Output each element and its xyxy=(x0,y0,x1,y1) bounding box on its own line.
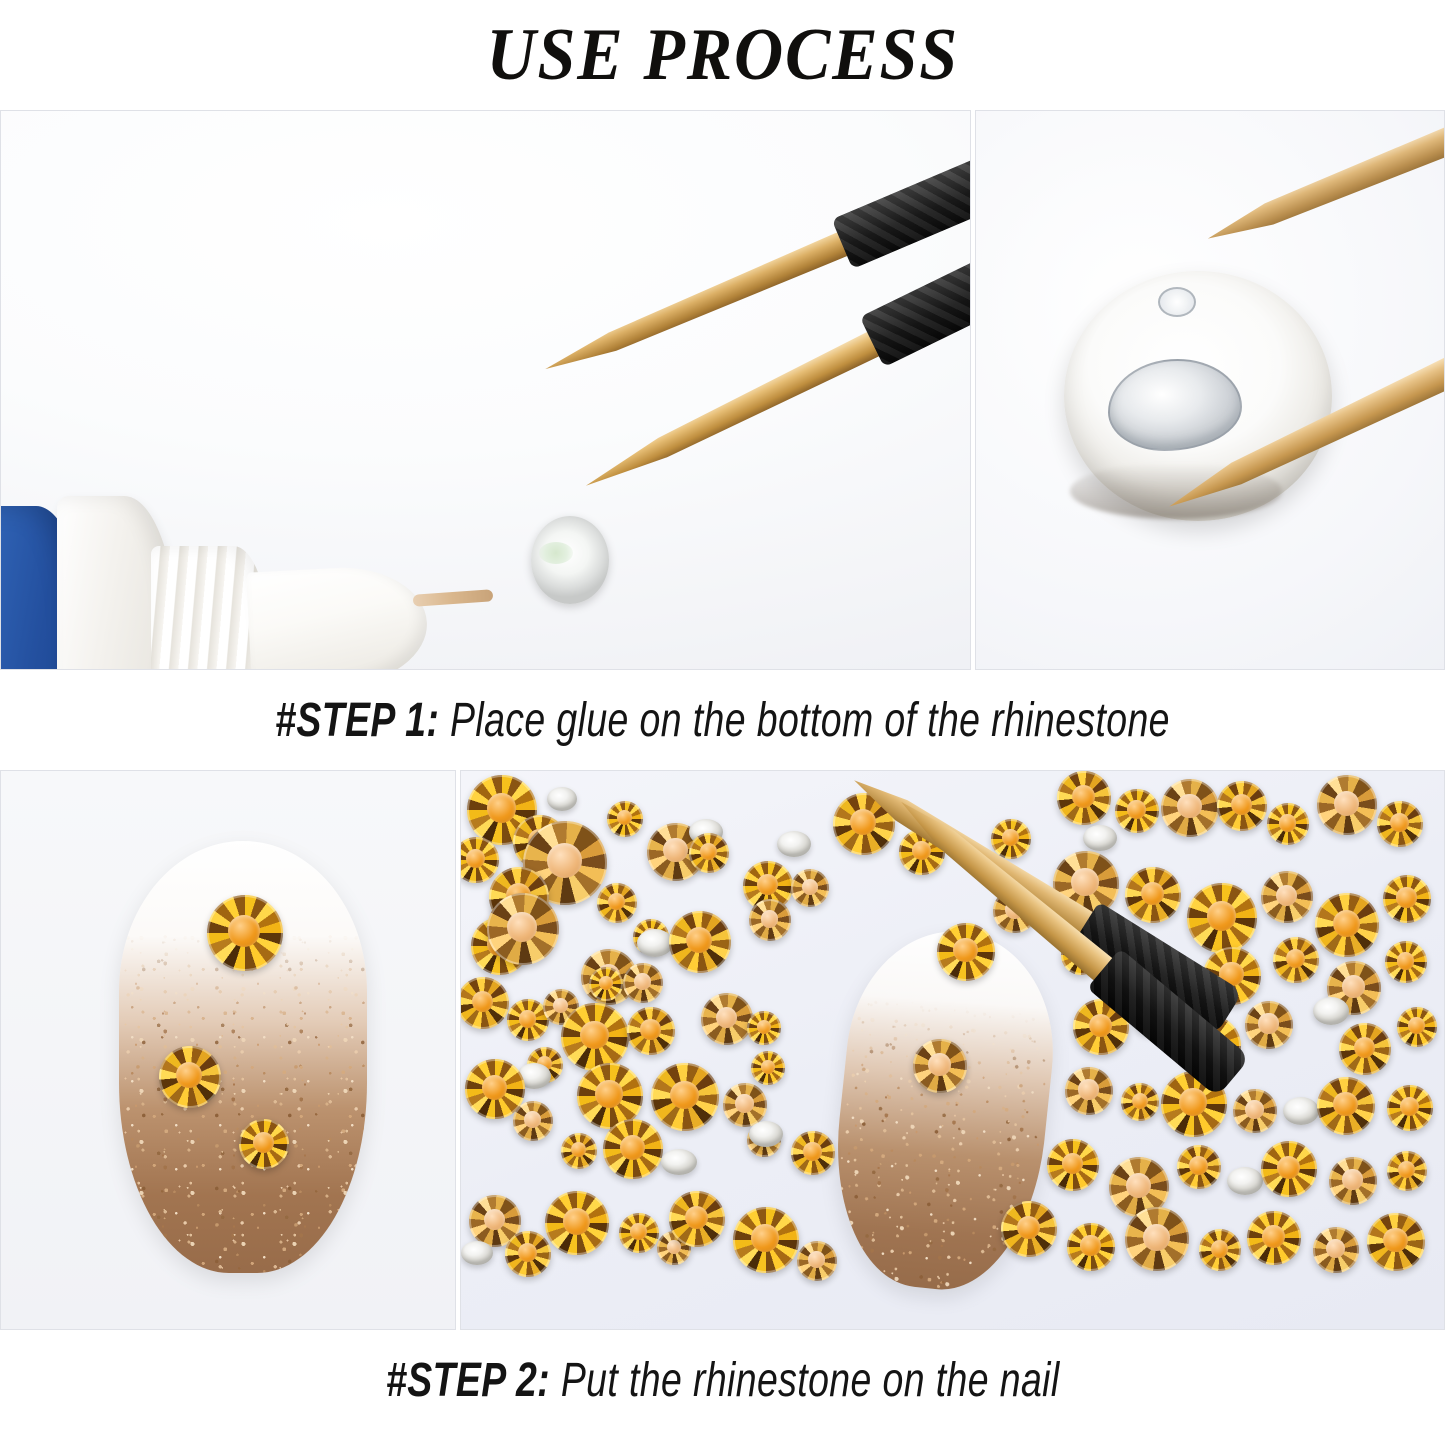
gold-rhinestone xyxy=(619,1213,659,1253)
gold-rhinestone xyxy=(751,1051,785,1085)
gold-rhinestone xyxy=(1367,1213,1425,1271)
gold-rhinestone xyxy=(607,801,643,837)
clear-rhinestone xyxy=(531,516,609,604)
gold-rhinestone xyxy=(159,1046,221,1108)
gold-rhinestone xyxy=(627,1007,675,1055)
step-1-text: Place glue on the bottom of the rhinesto… xyxy=(439,694,1170,747)
gold-rhinestone xyxy=(1199,1229,1241,1271)
step-2-image-row xyxy=(0,770,1445,1330)
gold-rhinestone xyxy=(545,1191,609,1255)
gold-rhinestone xyxy=(1315,893,1379,957)
gold-rhinestone xyxy=(689,833,729,873)
gold-rhinestone xyxy=(1125,867,1181,923)
gold-rhinestone xyxy=(1387,1085,1433,1131)
bottle-nozzle xyxy=(246,563,430,670)
silver-flatback xyxy=(1283,1097,1319,1125)
gold-rhinestone xyxy=(1313,1227,1359,1273)
page-header: USE PROCESS xyxy=(0,0,1445,110)
page-title: USE PROCESS xyxy=(486,18,958,92)
gold-rhinestone xyxy=(651,1063,719,1131)
gold-rhinestone xyxy=(747,1011,781,1045)
gold-rhinestone xyxy=(1317,1077,1375,1135)
gold-rhinestone xyxy=(701,993,753,1045)
glue-drop-small xyxy=(1158,287,1196,317)
gold-rhinestone xyxy=(505,1231,551,1277)
gold-rhinestone xyxy=(1385,941,1427,983)
gold-rhinestone xyxy=(1377,801,1423,847)
step-1-image-row xyxy=(0,110,1445,670)
gold-rhinestone xyxy=(239,1119,289,1169)
gold-rhinestone xyxy=(1247,1211,1301,1265)
gold-rhinestone xyxy=(513,1101,553,1141)
gold-rhinestone xyxy=(791,869,829,907)
silver-flatback xyxy=(461,1241,493,1265)
gold-rhinestone xyxy=(1261,1141,1317,1197)
glue-bottle xyxy=(0,496,481,670)
silver-flatback xyxy=(661,1149,697,1175)
panel-glue-drop-on-stone xyxy=(975,110,1445,670)
gold-rhinestone xyxy=(1245,1001,1293,1049)
gold-rhinestone xyxy=(597,883,637,923)
silver-flatback xyxy=(547,787,577,811)
silver-flatback xyxy=(637,929,673,957)
gold-rhinestone xyxy=(1065,1067,1113,1115)
gold-rhinestone xyxy=(1115,789,1159,833)
gold-rhinestone xyxy=(1387,1151,1427,1191)
gold-rhinestone xyxy=(1187,883,1257,953)
gold-rhinestone xyxy=(749,899,791,941)
gold-rhinestone xyxy=(1339,1023,1391,1075)
gold-rhinestone xyxy=(1261,871,1313,923)
gold-rhinestone xyxy=(669,1191,725,1247)
gold-rhinestone xyxy=(207,895,283,971)
gold-rhinestone xyxy=(561,1133,597,1169)
silver-flatback xyxy=(777,831,811,857)
gold-rhinestone xyxy=(1383,875,1431,923)
gold-rhinestone xyxy=(487,893,559,965)
gold-rhinestone xyxy=(797,1241,837,1281)
silver-flatback xyxy=(1083,825,1117,851)
gold-rhinestone xyxy=(561,1003,629,1071)
gold-rhinestone xyxy=(791,1131,835,1175)
gold-rhinestone xyxy=(603,1119,663,1179)
gold-rhinestone xyxy=(1267,803,1309,845)
glue-drop xyxy=(1108,359,1242,451)
step-2-caption: #STEP 2: Put the rhinestone on the nail xyxy=(0,1330,1445,1430)
panel-finished-nail xyxy=(0,770,456,1330)
gold-rhinestone xyxy=(1161,779,1219,837)
panel-glue-bottle-tweezers xyxy=(0,110,971,670)
step-1-label: #STEP 1: xyxy=(275,694,439,747)
gold-rhinestone-in-tweezers xyxy=(937,923,995,981)
gold-rhinestone xyxy=(1329,1157,1377,1205)
gold-rhinestone xyxy=(669,911,731,973)
gold-rhinestone xyxy=(1001,1201,1057,1257)
gold-rhinestone xyxy=(623,963,663,1003)
gold-rhinestone xyxy=(1317,775,1377,835)
silver-flatback xyxy=(1313,997,1349,1025)
gold-rhinestone xyxy=(1125,1207,1189,1271)
step-2-text: Put the rhinestone on the nail xyxy=(550,1354,1060,1407)
gold-rhinestone xyxy=(1121,1083,1159,1121)
gold-rhinestone-on-nail xyxy=(913,1039,967,1093)
gold-rhinestone xyxy=(589,967,623,1001)
gold-rhinestone xyxy=(1047,1139,1099,1191)
gold-rhinestone xyxy=(1397,1007,1437,1047)
silver-flatback xyxy=(1227,1167,1263,1195)
gold-rhinestone xyxy=(1233,1089,1277,1133)
gold-rhinestone xyxy=(733,1207,799,1273)
step-1-caption: #STEP 1: Place glue on the bottom of the… xyxy=(0,670,1445,770)
gold-rhinestone xyxy=(1177,1145,1221,1189)
step-2-label: #STEP 2: xyxy=(386,1354,550,1407)
panel-rhinestone-field xyxy=(460,770,1445,1330)
gold-rhinestone xyxy=(723,1083,767,1127)
gold-rhinestone xyxy=(1067,1223,1115,1271)
gold-rhinestone xyxy=(1057,771,1111,825)
gold-rhinestone xyxy=(1217,781,1267,831)
gold-rhinestone xyxy=(1273,937,1319,983)
silver-flatback xyxy=(749,1121,783,1147)
